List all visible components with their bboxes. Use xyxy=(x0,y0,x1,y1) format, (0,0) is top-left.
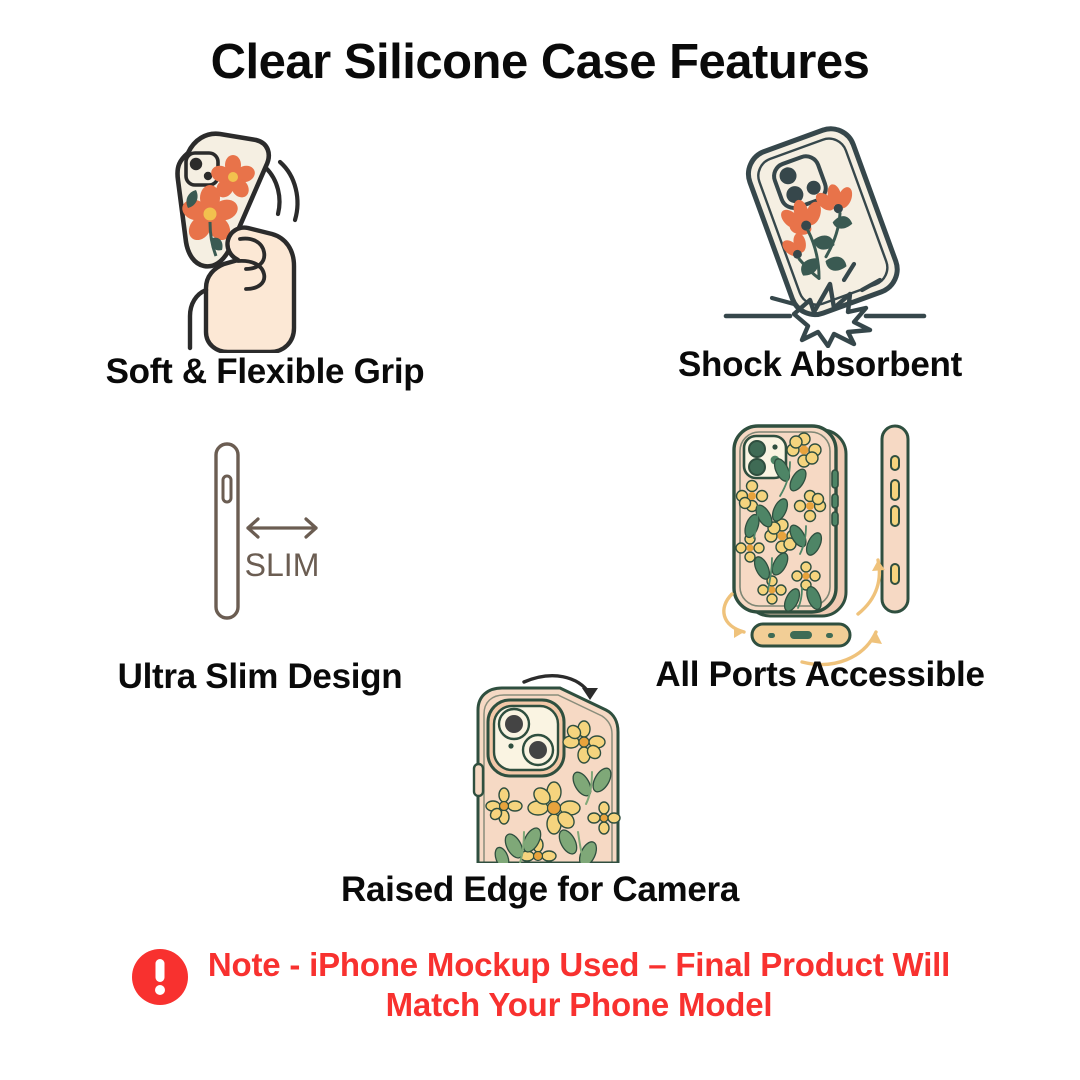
shock-absorbent-illustration xyxy=(698,108,948,348)
phone-side-buttons-view xyxy=(882,426,908,612)
infographic-page: Clear Silicone Case Features xyxy=(0,0,1080,1080)
all-ports-accessible-label: All Ports Accessible xyxy=(590,655,1050,695)
slim-annotation-text: SLIM xyxy=(245,547,320,583)
exclamation-circle-icon xyxy=(130,947,190,1007)
raised-edge-camera-illustration xyxy=(456,668,646,863)
mockup-disclaimer-note: Note - iPhone Mockup Used – Final Produc… xyxy=(0,945,1080,1026)
soft-flexible-grip-label: Soft & Flexible Grip xyxy=(15,352,515,392)
page-title: Clear Silicone Case Features xyxy=(0,34,1080,90)
phone-bottom-ports-view xyxy=(752,624,850,646)
all-ports-accessible-illustration xyxy=(706,418,942,668)
ultra-slim-design-illustration: SLIM xyxy=(186,428,376,633)
soft-flexible-grip-illustration xyxy=(128,118,368,353)
note-text: Note - iPhone Mockup Used – Final Produc… xyxy=(208,945,950,1026)
note-line-2: Match Your Phone Model xyxy=(208,985,950,1025)
raised-edge-camera-label: Raised Edge for Camera xyxy=(280,870,800,910)
ultra-slim-design-label: Ultra Slim Design xyxy=(30,657,490,697)
note-line-1: Note - iPhone Mockup Used – Final Produc… xyxy=(208,946,950,983)
shock-absorbent-label: Shock Absorbent xyxy=(590,345,1050,385)
